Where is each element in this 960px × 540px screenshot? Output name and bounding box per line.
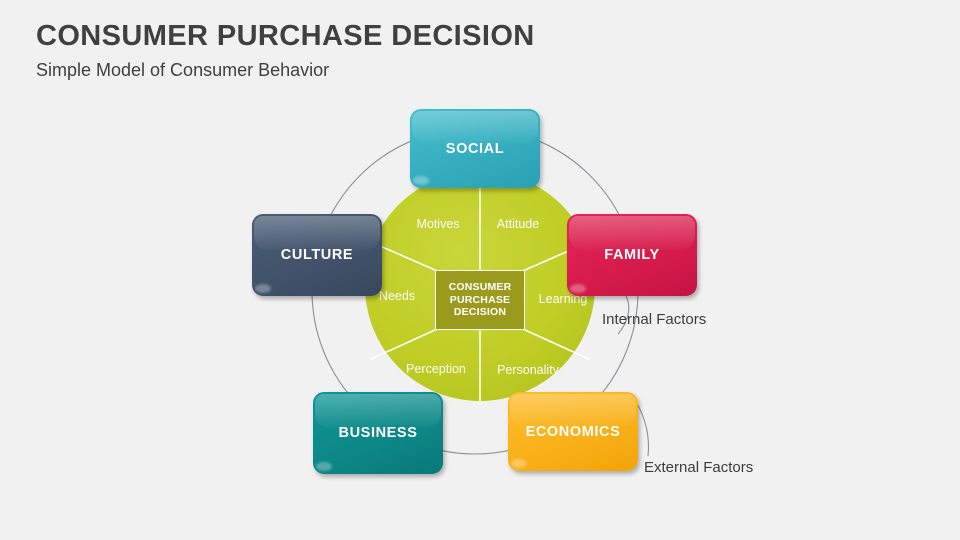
- consumer-purchase-decision-diagram: Motives Attitude Learning Personality Pe…: [0, 0, 960, 540]
- slide-canvas: CONSUMER PURCHASE DECISION Simple Model …: [0, 0, 960, 540]
- node-economics-label: ECONOMICS: [526, 424, 621, 440]
- node-business[interactable]: BUSINESS: [313, 392, 443, 474]
- node-social-label: SOCIAL: [446, 141, 504, 157]
- node-culture-label: CULTURE: [281, 247, 353, 263]
- node-culture[interactable]: CULTURE: [252, 214, 382, 296]
- node-family[interactable]: FAMILY: [567, 214, 697, 296]
- caption-external-factors: External Factors: [644, 459, 753, 476]
- node-economics[interactable]: ECONOMICS: [508, 392, 638, 471]
- node-family-label: FAMILY: [604, 247, 659, 263]
- caption-internal-factors: Internal Factors: [602, 311, 706, 328]
- hub-line-1: CONSUMER: [449, 281, 512, 293]
- hub-consumer-purchase-decision[interactable]: CONSUMER PURCHASE DECISION: [435, 270, 525, 330]
- hub-line-2: PURCHASE: [450, 294, 511, 306]
- node-social[interactable]: SOCIAL: [410, 109, 540, 188]
- node-business-label: BUSINESS: [339, 425, 418, 441]
- hub-line-3: DECISION: [454, 306, 506, 318]
